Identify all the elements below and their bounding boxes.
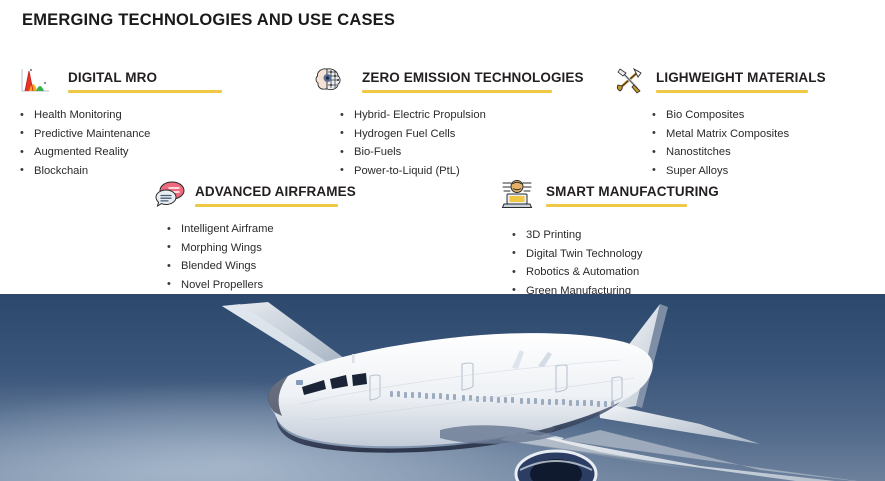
topic-item-list: 3D Printing Digital Twin Technology Robo… — [510, 226, 780, 300]
topic-header: SMART MANUFACTURING — [500, 178, 780, 216]
crossed-tools-icon — [612, 64, 646, 96]
airliner-in-flight-photo — [0, 294, 885, 481]
analytics-chart-icon — [18, 64, 52, 96]
airliner-illustration — [0, 294, 885, 481]
topic-smart-manufacturing: SMART MANUFACTURING 3D Printing Digital … — [500, 178, 780, 300]
list-item: Augmented Reality — [18, 143, 288, 162]
title-underline — [195, 204, 338, 207]
list-item: 3D Printing — [510, 226, 780, 245]
list-item: Health Monitoring — [18, 106, 288, 125]
list-item: Bio-Fuels — [338, 143, 612, 162]
speech-bubbles-icon — [155, 178, 189, 210]
list-item: Blended Wings — [165, 257, 415, 276]
list-item: Nanostitches — [650, 143, 882, 162]
topic-title: SMART MANUFACTURING — [546, 184, 719, 199]
topic-header: DIGITAL MRO — [18, 64, 288, 102]
list-item: Predictive Maintenance — [18, 125, 288, 144]
laptop-ai-icon — [500, 178, 534, 210]
list-item: Robotics & Automation — [510, 263, 780, 282]
topic-zero-emission-technologies: ZERO EMISSION TECHNOLOGIES Hybrid- Elect… — [312, 64, 612, 180]
list-item: Bio Composites — [650, 106, 882, 125]
title-underline — [546, 204, 687, 207]
list-item: Hybrid- Electric Propulsion — [338, 106, 612, 125]
topic-title: ADVANCED AIRFRAMES — [195, 184, 356, 199]
topic-item-list: Intelligent Airframe Morphing Wings Blen… — [165, 220, 415, 294]
topic-item-list: Hybrid- Electric Propulsion Hydrogen Fue… — [338, 106, 612, 180]
list-item: Intelligent Airframe — [165, 220, 415, 239]
topic-header: ZERO EMISSION TECHNOLOGIES — [312, 64, 612, 102]
list-item: Novel Propellers — [165, 276, 415, 295]
list-item: Morphing Wings — [165, 239, 415, 258]
topic-title: DIGITAL MRO — [68, 70, 157, 85]
topic-lighweight-materials: LIGHWEIGHT MATERIALS Bio Composites Meta… — [612, 64, 882, 180]
topic-header: LIGHWEIGHT MATERIALS — [612, 64, 882, 102]
title-underline — [362, 90, 552, 93]
ai-brain-icon — [312, 64, 346, 96]
page-title: EMERGING TECHNOLOGIES AND USE CASES — [22, 11, 395, 30]
list-item: Digital Twin Technology — [510, 245, 780, 264]
topic-advanced-airframes: ADVANCED AIRFRAMES Intelligent Airframe … — [155, 178, 415, 294]
topic-title: LIGHWEIGHT MATERIALS — [656, 70, 826, 85]
title-underline — [656, 90, 808, 93]
list-item: Metal Matrix Composites — [650, 125, 882, 144]
topic-digital-mro: DIGITAL MRO Health Monitoring Predictive… — [18, 64, 288, 180]
topic-header: ADVANCED AIRFRAMES — [155, 178, 415, 216]
topic-item-list: Health Monitoring Predictive Maintenance… — [18, 106, 288, 180]
topic-item-list: Bio Composites Metal Matrix Composites N… — [650, 106, 882, 180]
list-item: Hydrogen Fuel Cells — [338, 125, 612, 144]
title-underline — [68, 90, 222, 93]
topic-title: ZERO EMISSION TECHNOLOGIES — [362, 70, 584, 85]
slide-canvas: EMERGING TECHNOLOGIES AND USE CASES — [0, 0, 885, 481]
